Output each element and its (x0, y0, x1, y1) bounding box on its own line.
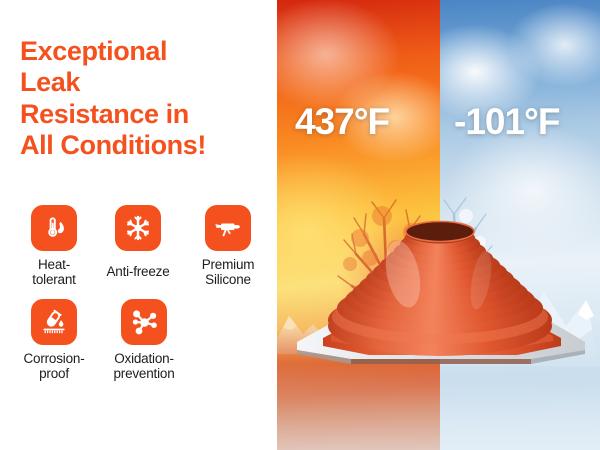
headline-line-4: All Conditions! (20, 130, 270, 161)
feature-corrosion-proof: Corrosion- proof (12, 299, 96, 381)
hot-temperature-label: 437°F (295, 101, 389, 143)
snowflake-icon (115, 205, 161, 251)
feature-label: Oxidation- prevention (113, 351, 174, 381)
feature-row-1: Heat- tolerant (12, 205, 277, 287)
feature-heat-tolerant: Heat- tolerant (12, 205, 96, 287)
feature-row-2: Corrosion- proof (12, 299, 277, 381)
feature-label: Corrosion- proof (23, 351, 84, 381)
product-photo-panel: 437°F -101°F (277, 0, 600, 450)
feature-list: Heat- tolerant (12, 205, 277, 381)
feature-anti-freeze: Anti-freeze (96, 205, 180, 287)
thermometer-flame-icon (31, 205, 77, 251)
text-column: Exceptional Leak Resistance in All Condi… (0, 0, 277, 450)
feature-label: Premium Silicone (202, 257, 255, 287)
caulking-gun-icon (205, 205, 251, 251)
feature-label: Anti-freeze (106, 264, 169, 279)
page-title: Exceptional Leak Resistance in All Condi… (20, 36, 270, 161)
cold-temperature-label: -101°F (454, 101, 559, 143)
headline-line-3: Resistance in (20, 99, 270, 130)
pipe-opening (406, 222, 474, 244)
test-tube-droplet-icon (31, 299, 77, 345)
product-feature-banner: Exceptional Leak Resistance in All Condi… (0, 0, 600, 450)
feature-oxidation-prevention: Oxidation- prevention (96, 299, 192, 381)
feature-label: Heat- tolerant (32, 257, 75, 287)
headline-line-1: Exceptional (20, 36, 270, 67)
silicone-pipe-flashing-product (285, 214, 595, 374)
feature-premium-silicone: Premium Silicone (180, 205, 276, 287)
headline-line-2: Leak (20, 67, 270, 98)
molecule-icon (121, 299, 167, 345)
